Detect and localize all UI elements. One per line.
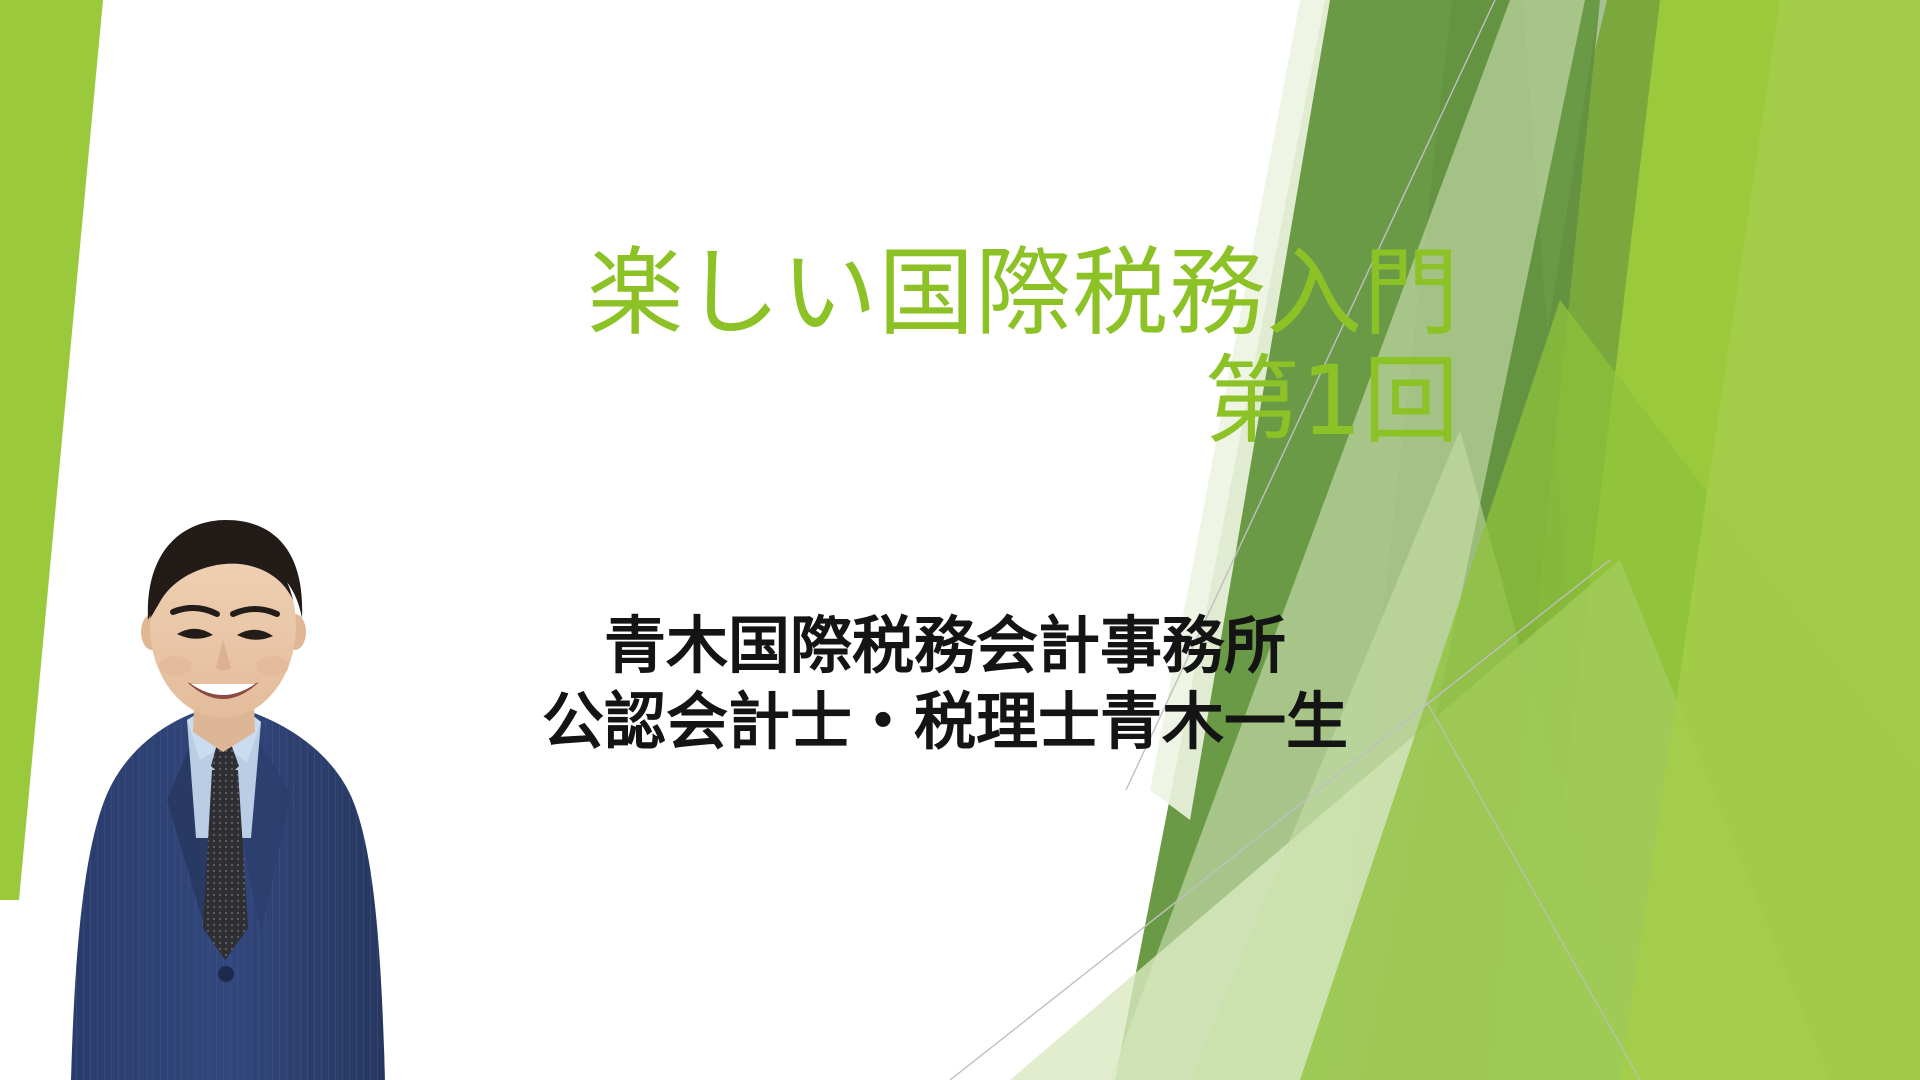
slide-title: 楽しい国際税務入門 第1回: [430, 240, 1460, 455]
slide-subtitle: 青木国際税務会計事務所 公認会計士・税理士青木一生: [430, 608, 1460, 759]
slide-subtitle-line-2: 公認会計士・税理士青木一生: [430, 684, 1460, 760]
slide-title-line-1: 楽しい国際税務入門: [430, 240, 1460, 348]
portrait-head: [141, 520, 306, 718]
jacket-button: [218, 966, 234, 982]
bright-green-facet-right-edge: [1620, 0, 1920, 1080]
slide-subtitle-line-1: 青木国際税務会計事務所: [430, 608, 1460, 684]
right-mid-green-overlap: [1430, 0, 1660, 1080]
presenter-portrait-photo: [55, 508, 395, 1080]
right-bright-green-column: [1350, 0, 1920, 1080]
pale-green-sheet-upper: [1110, 0, 1585, 1080]
slide-title-line-2: 第1回: [430, 348, 1460, 456]
right-deep-green-accent: [1330, 0, 1570, 1080]
right-dark-green-slab: [1115, 0, 1600, 1080]
title-slide: 楽しい国際税務入門 第1回 青木国際税務会計事務所 公認会計士・税理士青木一生: [0, 0, 1920, 1080]
